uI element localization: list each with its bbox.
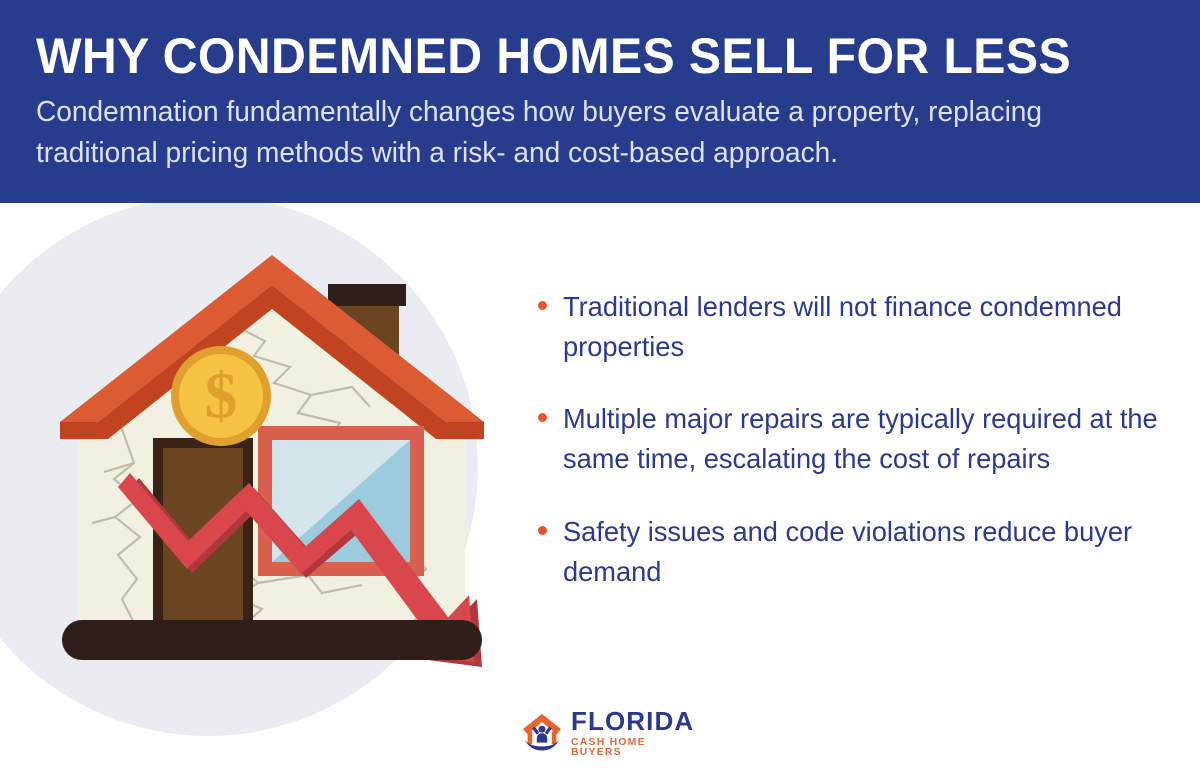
condemned-house-illustration: $: [22, 217, 522, 697]
florida-cash-home-buyers-mark-icon: [519, 709, 565, 755]
dollar-coin-icon: $: [171, 346, 271, 446]
logo-secondary-text: CASH HOME BUYERS: [571, 738, 699, 759]
benefits-list: Traditional lenders will not finance con…: [538, 287, 1186, 592]
ground-bar: [62, 620, 482, 660]
page-title: WHY CONDEMNED HOMES SELL FOR LESS: [36, 30, 1121, 82]
bullet-dot-icon: [538, 301, 547, 310]
infographic-root: WHY CONDEMNED HOMES SELL FOR LESS Condem…: [0, 0, 1200, 775]
list-item-label: Traditional lenders will not finance con…: [563, 287, 1180, 367]
list-item: Traditional lenders will not finance con…: [538, 287, 1186, 367]
list-item: Multiple major repairs are typically req…: [538, 399, 1186, 479]
list-item-label: Safety issues and code violations reduce…: [563, 512, 1180, 592]
bullet-dot-icon: [538, 413, 547, 422]
list-item: Safety issues and code violations reduce…: [538, 512, 1186, 592]
logo-wordmark: FLORIDA CASH HOME BUYERS: [571, 706, 699, 759]
header-banner: WHY CONDEMNED HOMES SELL FOR LESS Condem…: [0, 0, 1200, 203]
content-area: $ Traditional lenders will not finance c…: [0, 203, 1200, 775]
logo-primary-text: FLORIDA: [571, 708, 699, 734]
page-subtitle: Condemnation fundamentally changes how b…: [36, 92, 1143, 174]
bullet-dot-icon: [538, 526, 547, 535]
list-item-label: Multiple major repairs are typically req…: [563, 399, 1180, 479]
brand-logo[interactable]: FLORIDA CASH HOME BUYERS: [519, 706, 699, 758]
svg-text:$: $: [205, 360, 238, 433]
